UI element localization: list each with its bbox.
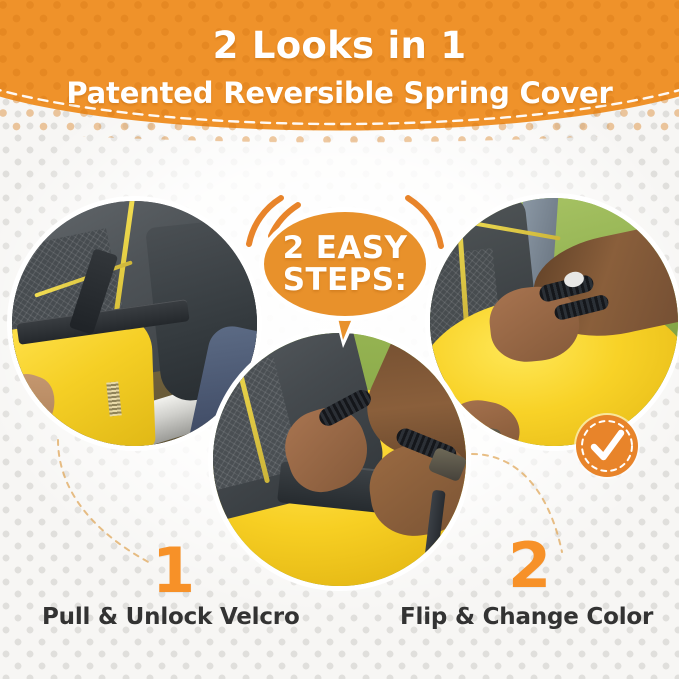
callout-bubble-body [264,212,426,316]
step-number-1: 1 [152,540,195,602]
check-badge [573,412,641,480]
page-subtitle: Patented Reversible Spring Cover [0,76,679,110]
photo-flip-color [430,198,678,446]
callout-bubble: 2 EASY STEPS: [235,192,455,352]
photo-unfasten [213,333,466,586]
page-title: 2 Looks in 1 [0,24,679,67]
badge-circle [576,415,638,477]
step-number-2: 2 [508,535,551,597]
infographic-canvas: 2 EASY STEPS: 1 2 Pull & Unlock Velcro F… [0,0,679,679]
step-caption-1: Pull & Unlock Velcro [42,604,300,630]
step-caption-2: Flip & Change Color [400,604,653,630]
header-banner: 2 Looks in 1 Patented Reversible Spring … [0,0,679,150]
